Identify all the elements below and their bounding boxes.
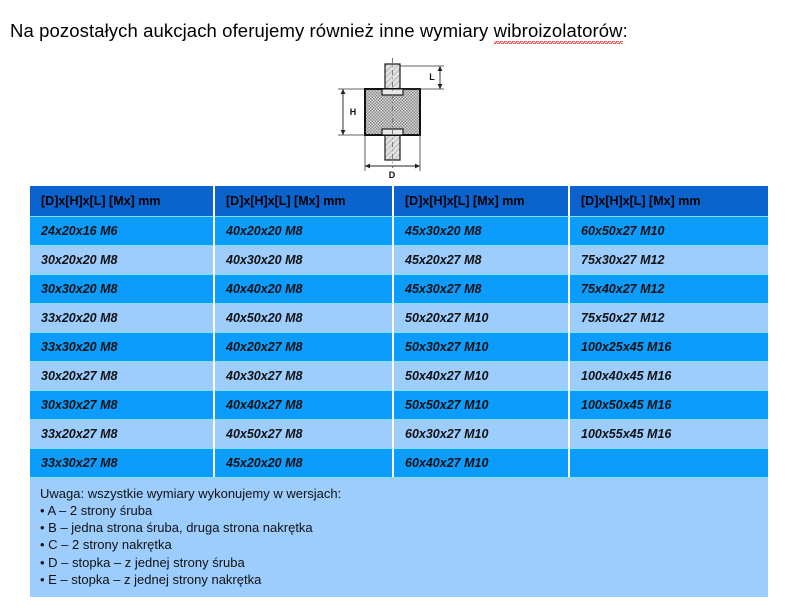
h-arrow-down: [341, 130, 346, 135]
column-header-2: [D]x[H]x[L] [Mx] mm: [215, 186, 394, 216]
table-cell: 40x50x20 M8: [215, 303, 394, 332]
note-item-b: • B – jedna strona śruba, druga strona n…: [40, 519, 768, 536]
table-cell: 33x20x20 M8: [30, 303, 215, 332]
table-cell: 33x30x27 M8: [30, 448, 215, 477]
table-cell: 40x30x27 M8: [215, 361, 394, 390]
h-label: H: [350, 107, 357, 117]
table-note: Uwaga: wszystkie wymiary wykonujemy w we…: [30, 477, 768, 597]
column-header-3: [D]x[H]x[L] [Mx] mm: [394, 186, 570, 216]
table-cell: 60x50x27 M10: [570, 216, 768, 245]
vibration-isolator-diagram: L H D: [322, 56, 482, 180]
column-header-4: [D]x[H]x[L] [Mx] mm: [570, 186, 768, 216]
table-cell: 40x20x20 M8: [215, 216, 394, 245]
table-cell: 33x30x20 M8: [30, 332, 215, 361]
table-cell: 100x50x45 M16: [570, 390, 768, 419]
table-cell: 40x40x27 M8: [215, 390, 394, 419]
table-cell: 100x25x45 M16: [570, 332, 768, 361]
table-cell: 24x20x16 M6: [30, 216, 215, 245]
table-row: 30x20x27 M8 40x30x27 M8 50x40x27 M10 100…: [30, 361, 768, 390]
l-arrow-down: [438, 84, 443, 89]
table-cell: 50x50x27 M10: [394, 390, 570, 419]
table-row: 30x20x20 M8 40x30x20 M8 45x20x27 M8 75x3…: [30, 245, 768, 274]
table-cell: 45x30x20 M8: [394, 216, 570, 245]
table-cell: 60x30x27 M10: [394, 419, 570, 448]
table-cell: 30x30x27 M8: [30, 390, 215, 419]
table-row: 33x30x27 M8 45x20x20 M8 60x40x27 M10: [30, 448, 768, 477]
table-cell: 50x20x27 M10: [394, 303, 570, 332]
h-arrow-up: [341, 89, 346, 94]
page-title: Na pozostałych aukcjach oferujemy równie…: [10, 20, 628, 42]
table-cell: 100x40x45 M16: [570, 361, 768, 390]
table-row: 33x20x20 M8 40x50x20 M8 50x20x27 M10 75x…: [30, 303, 768, 332]
table-row: 30x30x27 M8 40x40x27 M8 50x50x27 M10 100…: [30, 390, 768, 419]
table-cell: 40x20x27 M8: [215, 332, 394, 361]
l-arrow-up: [438, 66, 443, 71]
l-label: L: [429, 72, 435, 82]
table-cell: 30x20x20 M8: [30, 245, 215, 274]
slide-page: Na pozostałych aukcjach oferujemy równie…: [0, 0, 794, 612]
table-cell: 50x40x27 M10: [394, 361, 570, 390]
note-heading: Uwaga: wszystkie wymiary wykonujemy w we…: [40, 485, 768, 502]
table-cell: 30x30x20 M8: [30, 274, 215, 303]
d-arrow-right: [415, 164, 420, 169]
table-cell: 45x30x27 M8: [394, 274, 570, 303]
column-header-1: [D]x[H]x[L] [Mx] mm: [30, 186, 215, 216]
note-item-c: • C – 2 strony nakrętka: [40, 536, 768, 553]
table-cell: 100x55x45 M16: [570, 419, 768, 448]
table-cell: 40x50x27 M8: [215, 419, 394, 448]
table-cell: 45x20x20 M8: [215, 448, 394, 477]
table-cell: 75x40x27 M12: [570, 274, 768, 303]
table-cell-empty: [570, 448, 768, 477]
note-item-a: • A – 2 strony śruba: [40, 502, 768, 519]
table-cell: 75x50x27 M12: [570, 303, 768, 332]
table-row: 24x20x16 M6 40x20x20 M8 45x30x20 M8 60x5…: [30, 216, 768, 245]
table-cell: 40x40x20 M8: [215, 274, 394, 303]
table-note-row: Uwaga: wszystkie wymiary wykonujemy w we…: [30, 477, 768, 597]
table-cell: 33x20x27 M8: [30, 419, 215, 448]
table-row: 33x30x20 M8 40x20x27 M8 50x30x27 M10 100…: [30, 332, 768, 361]
d-label: D: [389, 170, 396, 180]
dimensions-table: [D]x[H]x[L] [Mx] mm [D]x[H]x[L] [Mx] mm …: [30, 186, 768, 597]
page-title-text-after: :: [623, 20, 628, 41]
table-cell: 30x20x27 M8: [30, 361, 215, 390]
table-cell: 40x30x20 M8: [215, 245, 394, 274]
note-item-d: • D – stopka – z jednej strony śruba: [40, 554, 768, 571]
table-body: 24x20x16 M6 40x20x20 M8 45x30x20 M8 60x5…: [30, 216, 768, 597]
table-cell: 60x40x27 M10: [394, 448, 570, 477]
table-cell: 45x20x27 M8: [394, 245, 570, 274]
table-cell: 75x30x27 M12: [570, 245, 768, 274]
note-item-e: • E – stopka – z jednej strony nakrętka: [40, 571, 768, 588]
table-row: 33x20x27 M8 40x50x27 M8 60x30x27 M10 100…: [30, 419, 768, 448]
table-cell: 50x30x27 M10: [394, 332, 570, 361]
page-title-text-before: Na pozostałych aukcjach oferujemy równie…: [10, 20, 494, 41]
d-arrow-left: [365, 164, 370, 169]
table-header-row: [D]x[H]x[L] [Mx] mm [D]x[H]x[L] [Mx] mm …: [30, 186, 768, 216]
spellcheck-flagged-word: wibroizolatorów: [494, 20, 623, 44]
table-row: 30x30x20 M8 40x40x20 M8 45x30x27 M8 75x4…: [30, 274, 768, 303]
